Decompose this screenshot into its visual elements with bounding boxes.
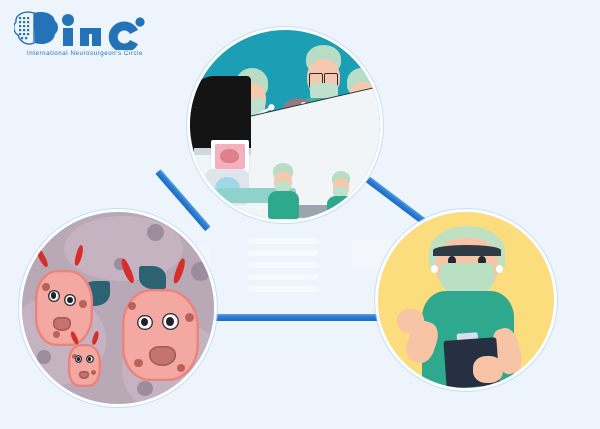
background-watermark [248,262,318,268]
hand-holding-clipboard [473,356,503,382]
background-watermark [248,286,318,292]
nurse-figure-lower-right [327,171,357,220]
brain-icon [14,8,148,50]
logo-tagline: International Neurosurgeon's Circle [14,50,156,57]
connector-tumor-nurse [207,314,393,321]
hair [433,245,502,256]
node-surgery[interactable] [190,30,380,220]
earring-right [496,265,503,273]
node-nurse[interactable] [378,212,554,388]
earring-left [431,265,438,273]
node-tumor[interactable] [22,212,214,404]
background-watermark [248,274,318,280]
operating-room-icon [190,30,380,220]
logo[interactable]: International Neurosurgeon's Circle [14,8,164,70]
waving-hand [397,309,423,334]
brain-scan-image [211,140,249,172]
background-watermark [248,238,318,244]
tumor-cell-icon [22,212,214,404]
tumor-cell-small [68,344,101,386]
tumor-cell-medium [35,270,93,347]
infographic-canvas: International Neurosurgeon's Circle [0,0,600,429]
tumor-cell-large [122,289,199,381]
surgeon-icon [378,212,554,388]
background-watermark [248,250,318,256]
nurse-figure-lower-left [268,163,300,216]
